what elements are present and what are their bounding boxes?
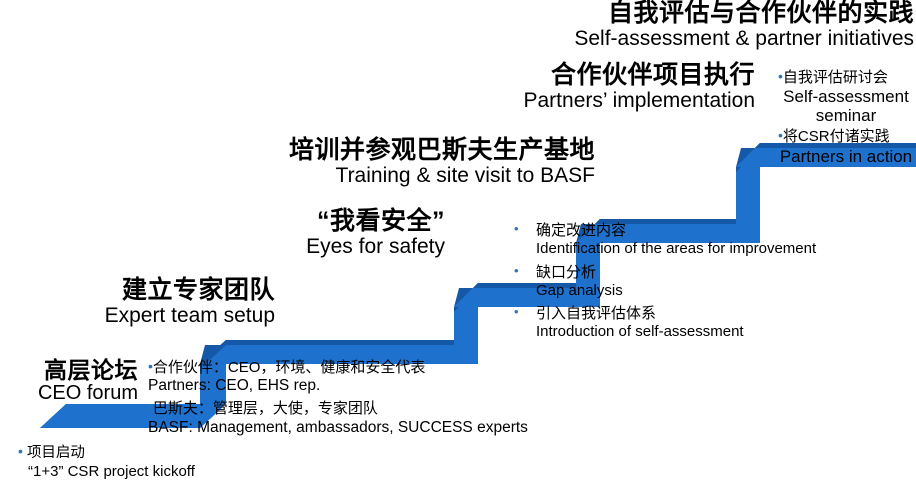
step-label-self-assessment-partner-initiatives: 自我评估与合作伙伴的实践 Self-assessment & partner i… <box>530 0 914 50</box>
bullet-cn: • 项目启动 <box>18 443 195 463</box>
step-label-partners-implementation: 合作伙伴项目执行 Partners’ implementation <box>455 62 755 112</box>
bullet-en: Introduction of self-assessment <box>508 323 816 341</box>
riser-expert-to-eyes-bevel <box>454 283 478 312</box>
step-en-eyes-for-safety: Eyes for safety <box>250 236 445 258</box>
bullet-cn-text: 将CSR付诸实践 <box>783 128 890 145</box>
bullet-en: Self-assessment <box>778 87 914 106</box>
step-en-training-site-visit: Training & site visit to BASF <box>280 165 595 187</box>
step-cn-expert-team-setup: 建立专家团队 <box>60 277 275 304</box>
bullet-item: •缺口分析 Gap analysis <box>508 264 816 301</box>
bullet-dot-icon: • <box>18 443 23 459</box>
bullet-cn: •缺口分析 <box>508 264 816 282</box>
bullet-cn-text: 自我评估研讨会 <box>783 69 888 86</box>
bullet-cn-text: 确定改进内容 <box>536 222 626 239</box>
stair-step-2-tread-face <box>228 345 480 356</box>
bullet-cn: •合作伙伴：CEO，环境、健康和安全代表 <box>148 358 528 377</box>
bullet-en: Identification of the areas for improvem… <box>508 240 816 258</box>
bullet-group-kickoff: • 项目启动 “1+3” CSR project kickoff <box>18 443 195 482</box>
bullet-dot-icon: • <box>514 304 519 320</box>
riser-training-to-partners-bevel <box>736 143 760 172</box>
bullet-cn: •将CSR付诸实践 <box>778 127 914 146</box>
bullet-dot-icon: • <box>514 263 519 279</box>
slide-canvas: 高层论坛 CEO forum 建立专家团队 Expert team setup … <box>0 0 916 482</box>
stair-step-5 <box>600 166 682 188</box>
bullet-cn: •引入自我评估体系 <box>508 305 816 323</box>
step-label-ceo-forum: 高层论坛 CEO forum <box>8 358 138 405</box>
step-cn-eyes-for-safety: “我看安全” <box>250 208 445 235</box>
step-en-expert-team-setup: Expert team setup <box>60 305 275 327</box>
bullet-item: •引入自我评估体系 Introduction of self-assessmen… <box>508 305 816 342</box>
bullet-cn: •确定改进内容 <box>508 222 816 240</box>
bullet-cn-text: 引入自我评估体系 <box>536 305 656 322</box>
bullet-cn-text: 缺口分析 <box>536 264 596 281</box>
bullet-group-partner-initiatives: •自我评估研讨会 Self-assessment seminar •将CSR付诸… <box>778 68 914 168</box>
step-cn-self-assessment: 自我评估与合作伙伴的实践 <box>530 0 914 27</box>
bullet-en: Partners: CEO, EHS rep. <box>148 377 528 396</box>
bullet-item: •将CSR付诸实践 Partners in action <box>778 127 914 165</box>
bullet-item: •自我评估研讨会 Self-assessment seminar <box>778 68 914 125</box>
riser-2b <box>454 283 478 364</box>
bullet-dot-icon: • <box>514 221 519 237</box>
step-label-training-site-visit: 培训并参观巴斯夫生产基地 Training & site visit to BA… <box>280 137 595 187</box>
step-label-expert-team-setup: 建立专家团队 Expert team setup <box>60 277 275 327</box>
bullet-en: Gap analysis <box>508 282 816 300</box>
bullet-en-cont: seminar <box>778 106 914 125</box>
bullet-group-ceo-forum: •合作伙伴：CEO，环境、健康和安全代表 Partners: CEO, EHS … <box>148 358 528 440</box>
bullet-cn: •巴斯夫：管理层，大使，专家团队 <box>148 399 528 418</box>
step-en-ceo-forum: CEO forum <box>8 383 138 404</box>
stair-step-2-riser <box>456 288 480 367</box>
bullet-item: •巴斯夫：管理层，大使，专家团队 BASF: Management, ambas… <box>148 399 528 437</box>
bullet-en: Partners in action <box>778 147 914 166</box>
riser-2-bevel <box>454 283 478 313</box>
riser-expert-to-eyes <box>454 283 478 364</box>
bullet-cn-text: 项目启动 <box>27 445 85 461</box>
step-cn-partners-implementation: 合作伙伴项目执行 <box>455 62 755 89</box>
bullet-en: “1+3” CSR project kickoff <box>18 463 195 481</box>
bullet-group-self-assessment-topics: •确定改进内容 Identification of the areas for … <box>508 222 816 347</box>
bullet-cn-text: 巴斯夫：管理层，大使，专家团队 <box>153 400 378 417</box>
stair-landing-eyes <box>270 268 470 290</box>
step-label-eyes-for-safety: “我看安全” Eyes for safety <box>250 208 445 258</box>
bullet-item: • 项目启动 “1+3” CSR project kickoff <box>18 443 195 481</box>
step-en-partners-implementation: Partners’ implementation <box>455 90 755 112</box>
step-cn-training-site-visit: 培训并参观巴斯夫生产基地 <box>280 137 595 164</box>
bullet-cn: •自我评估研讨会 <box>778 68 914 87</box>
bullet-en: BASF: Management, ambassadors, SUCCESS e… <box>148 419 528 438</box>
bullet-item: •确定改进内容 Identification of the areas for … <box>508 222 816 259</box>
bullet-item: •合作伙伴：CEO，环境、健康和安全代表 Partners: CEO, EHS … <box>148 358 528 396</box>
step-en-self-assessment: Self-assessment & partner initiatives <box>530 28 914 50</box>
bullet-cn-text: 合作伙伴：CEO，环境、健康和安全代表 <box>153 359 426 376</box>
step-cn-ceo-forum: 高层论坛 <box>8 358 138 382</box>
